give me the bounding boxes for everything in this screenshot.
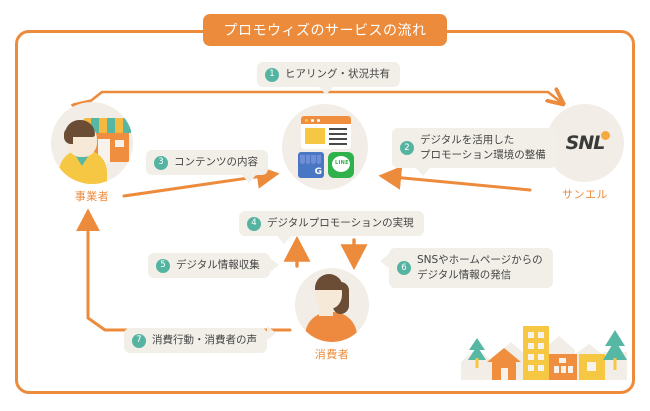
browser-window-icon bbox=[301, 116, 351, 149]
line-app-icon: LINE bbox=[328, 152, 354, 178]
browser-titlebar bbox=[301, 116, 351, 124]
sunl-logo-icon: SNL bbox=[546, 104, 624, 182]
callout-tail-3 bbox=[242, 175, 256, 183]
callout-tail-7 bbox=[267, 326, 276, 340]
line-app-label: LINE bbox=[335, 160, 349, 166]
step-label-2-line1: デジタルを活用した bbox=[420, 134, 514, 146]
browser-text-lines bbox=[329, 128, 347, 144]
callout-step-2: 2 デジタルを活用した プロモーション環境の整備 bbox=[392, 128, 556, 168]
digital-promotion-icon: G LINE bbox=[282, 104, 368, 190]
step-label-7: 消費行動・消費者の声 bbox=[152, 333, 257, 348]
business-person-illustration bbox=[57, 120, 109, 184]
step-label-5: デジタル情報収集 bbox=[176, 258, 260, 273]
callout-tail-6 bbox=[380, 254, 389, 268]
google-business-icon: G bbox=[298, 152, 324, 178]
shop-owner-icon bbox=[51, 102, 133, 184]
callout-tail-4 bbox=[277, 236, 291, 244]
browser-image-placeholder bbox=[305, 128, 325, 144]
callout-step-4: 4 デジタルプロモーションの実現 bbox=[239, 211, 424, 236]
consumer-icon bbox=[295, 268, 369, 342]
sunl-logo-dot bbox=[601, 131, 610, 140]
step-badge-3: 3 bbox=[154, 156, 168, 170]
step-badge-4: 4 bbox=[247, 217, 261, 231]
step-label-6-line1: SNSやホームページからの bbox=[417, 254, 543, 266]
callout-step-3: 3 コンテンツの内容 bbox=[146, 150, 268, 175]
step-badge-6: 6 bbox=[397, 261, 411, 275]
callout-step-7: 7 消費行動・消費者の声 bbox=[124, 328, 267, 353]
step-badge-1: 1 bbox=[265, 68, 279, 82]
sunl-logo-text: SNL bbox=[566, 132, 605, 154]
node-gyosha-label: 事業者 bbox=[40, 188, 144, 204]
shop-window bbox=[115, 140, 124, 147]
arrow-step-2 bbox=[382, 176, 530, 190]
node-digital: G LINE bbox=[277, 104, 373, 190]
callout-tail-1 bbox=[319, 87, 333, 95]
step-label-6-line2: デジタル情報の発信 bbox=[417, 269, 511, 281]
callout-step-5: 5 デジタル情報収集 bbox=[148, 253, 270, 278]
step-badge-2: 2 bbox=[400, 141, 414, 155]
diagram-title: プロモウィズのサービスの流れ bbox=[203, 14, 447, 46]
step-badge-5: 5 bbox=[156, 259, 170, 273]
callout-tail-5 bbox=[270, 258, 279, 272]
callout-tail-2 bbox=[416, 168, 430, 176]
service-flow-diagram: プロモウィズのサービスの流れ bbox=[0, 0, 650, 411]
callout-step-6: 6 SNSやホームページからの デジタル情報の発信 bbox=[389, 248, 553, 288]
node-shohisha-label: 消費者 bbox=[287, 346, 377, 362]
consumer-illustration bbox=[295, 268, 369, 342]
step-label-4: デジタルプロモーションの実現 bbox=[267, 216, 414, 231]
callout-step-1: 1 ヒアリング・状況共有 bbox=[257, 62, 400, 87]
node-sunl-label: サンエル bbox=[533, 186, 637, 202]
node-gyosha: 事業者 bbox=[40, 102, 144, 204]
google-business-letter: G bbox=[315, 167, 322, 177]
step-label-2-line2: プロモーション環境の整備 bbox=[420, 149, 546, 161]
step-badge-7: 7 bbox=[132, 334, 146, 348]
step-label-1: ヒアリング・状況共有 bbox=[285, 67, 390, 82]
node-shohisha: 消費者 bbox=[287, 268, 377, 362]
step-label-3: コンテンツの内容 bbox=[174, 155, 258, 170]
